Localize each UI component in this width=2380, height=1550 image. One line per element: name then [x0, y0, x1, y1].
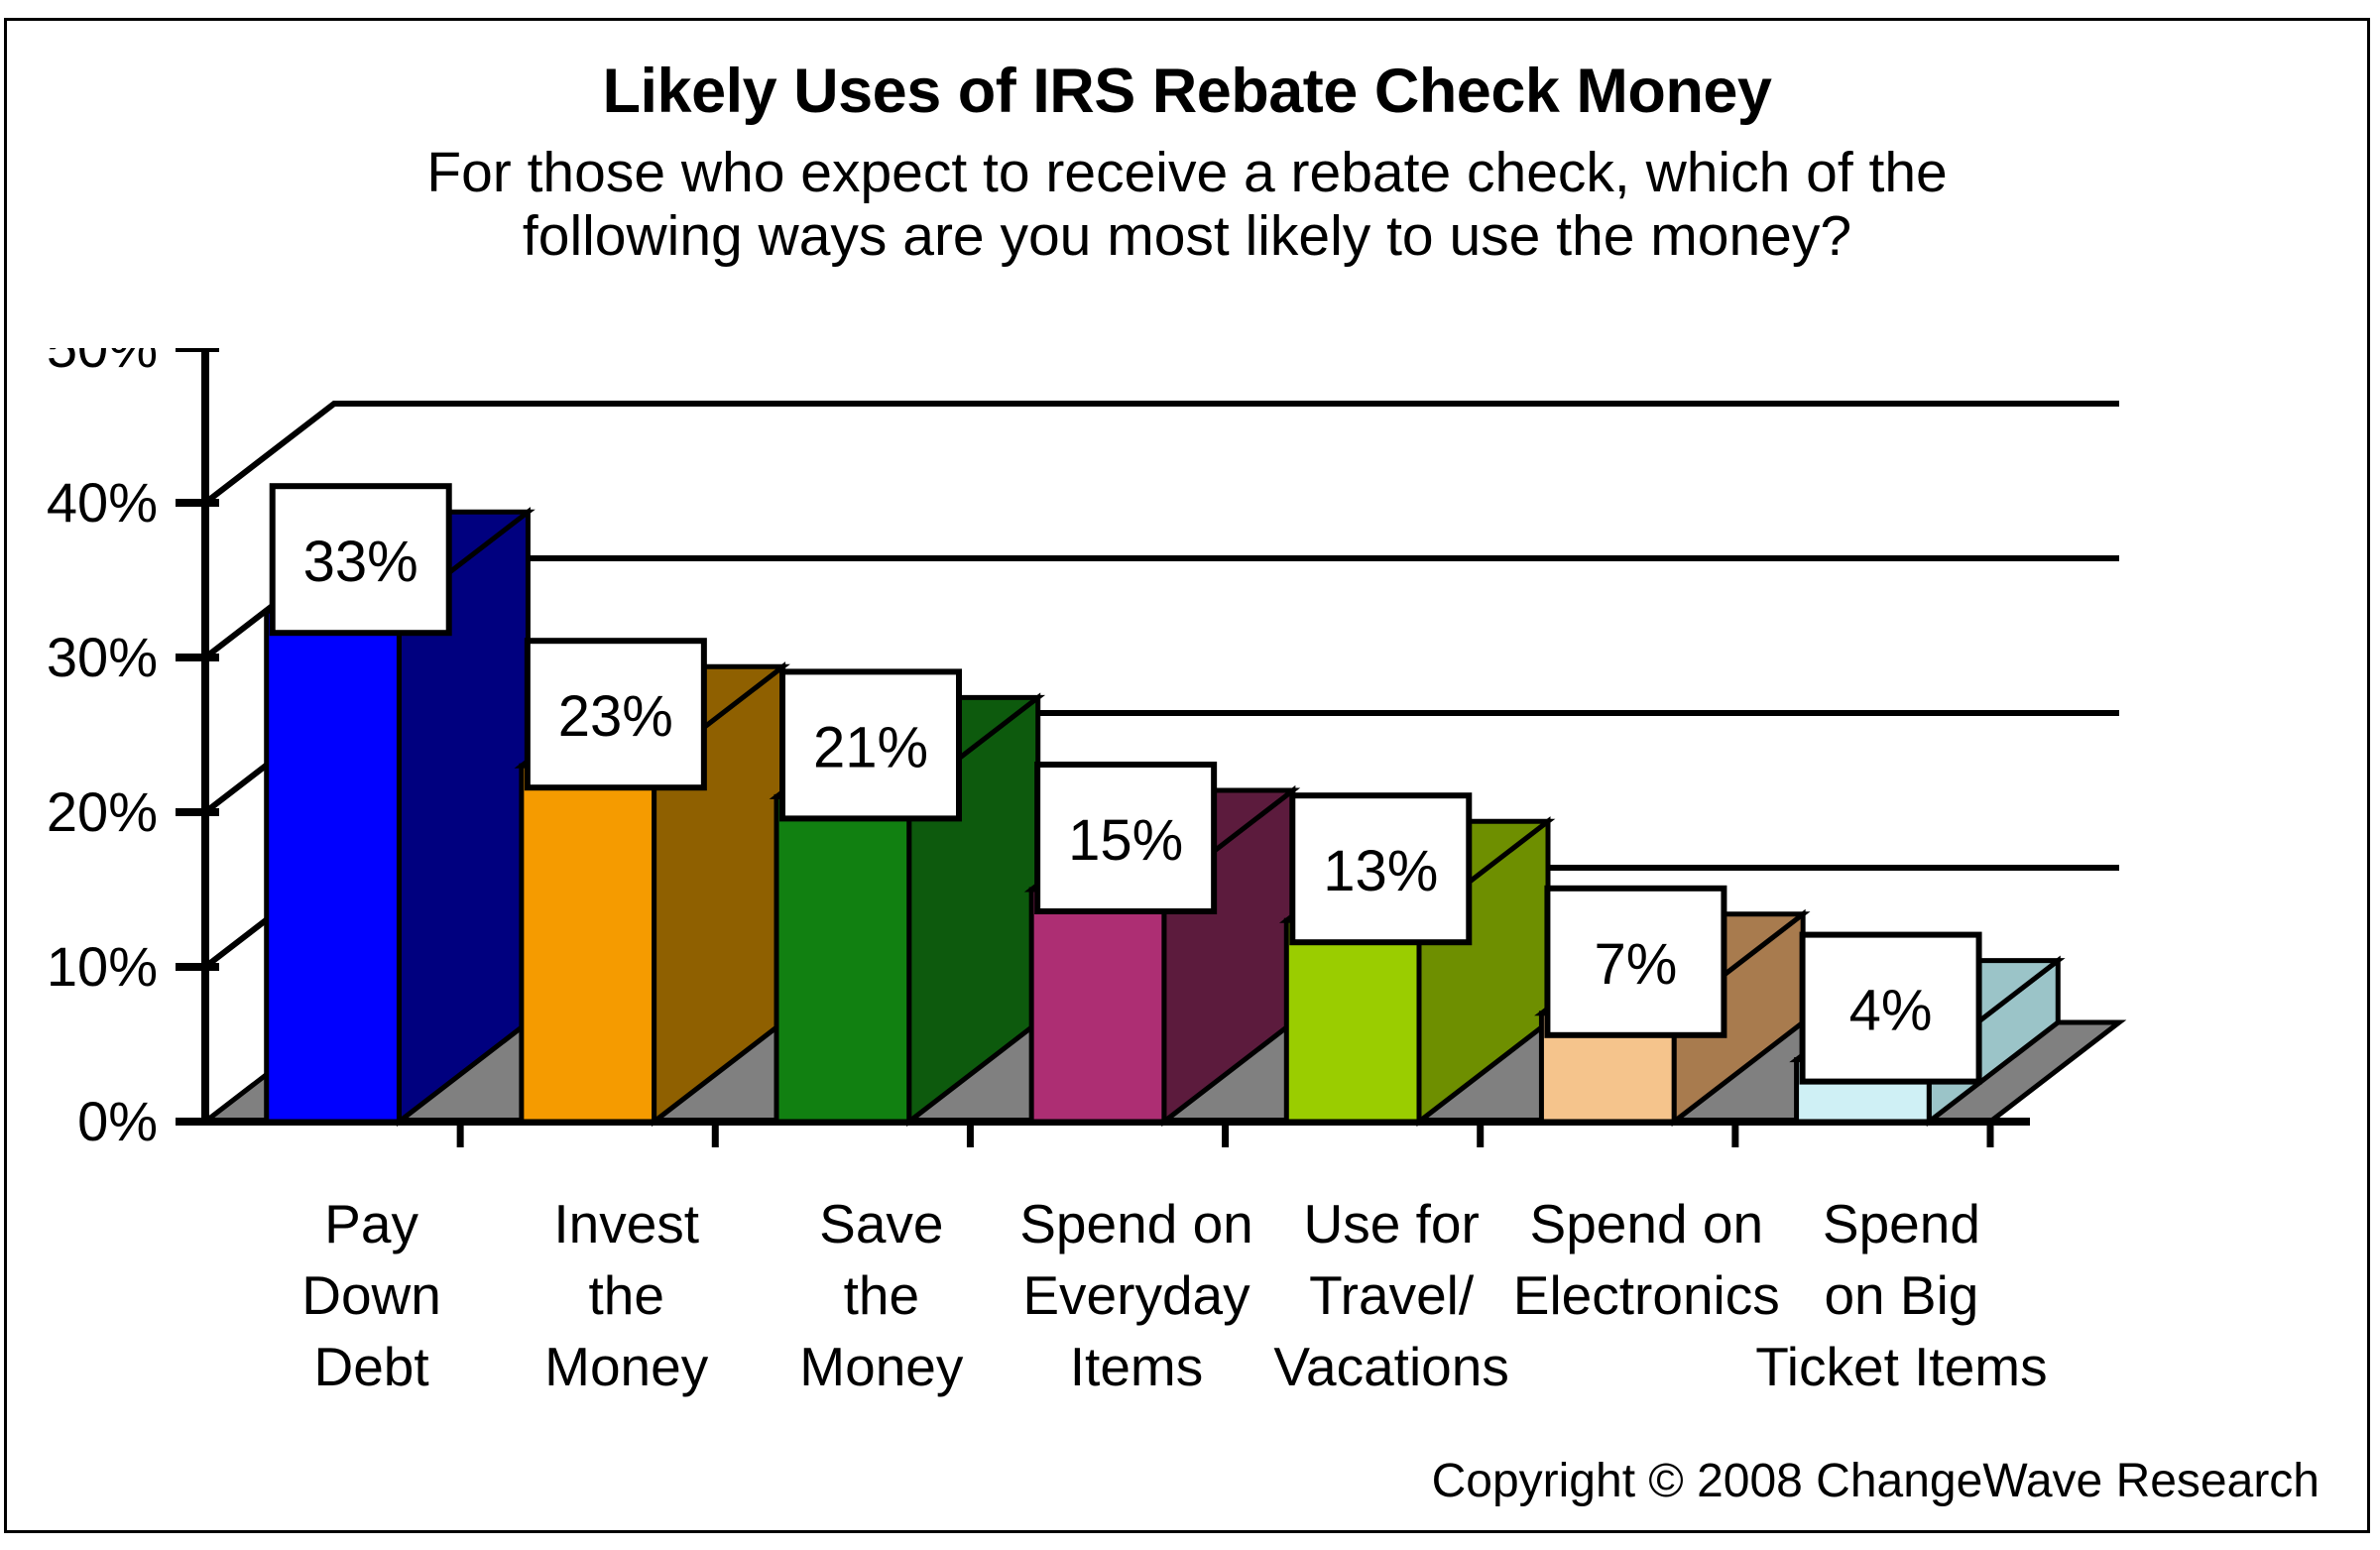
y-axis-tick-label: 0%: [77, 1090, 158, 1152]
page-title: Likely Uses of IRS Rebate Check Money: [7, 59, 2367, 124]
chart-frame: Likely Uses of IRS Rebate Check Money Fo…: [4, 18, 2370, 1533]
bar-front-face: [267, 611, 400, 1122]
category-label-line: Items: [1070, 1336, 1203, 1397]
y-axis-tick-label: 10%: [47, 935, 158, 998]
category-label-line: the: [844, 1264, 919, 1326]
x-axis-category-label: Use forTravel/Vacations: [1273, 1193, 1508, 1397]
y-axis-tick-labels: 0%10%20%30%40%50%: [47, 348, 158, 1152]
chart-titles: Likely Uses of IRS Rebate Check Money Fo…: [7, 21, 2367, 269]
value-label-text: 23%: [558, 684, 673, 749]
value-label-text: 21%: [813, 715, 928, 779]
category-label-line: the: [588, 1264, 663, 1326]
bar-front-face: [1031, 890, 1164, 1122]
y-axis-tick-label: 40%: [47, 471, 158, 534]
category-label-line: on Big: [1824, 1264, 1978, 1326]
bar-chart-plot: 0%10%20%30%40%50% 33%23%21%15%13%7%4% Pa…: [7, 348, 2373, 1459]
category-label-line: Money: [544, 1336, 709, 1397]
value-label: 21%: [782, 671, 959, 818]
category-label-line: Down: [301, 1264, 441, 1326]
x-axis-category-label: SavetheMoney: [799, 1193, 964, 1397]
value-label-text: 13%: [1323, 839, 1438, 903]
y-axis-tick-label: 50%: [47, 348, 158, 379]
bar-front-face: [776, 796, 909, 1122]
bar-front-face: [1286, 920, 1419, 1122]
value-label: 4%: [1803, 935, 1979, 1082]
value-label: 13%: [1292, 795, 1469, 942]
category-label-line: Spend on: [1530, 1193, 1764, 1254]
x-axis-category-labels: PayDownDebtInvesttheMoneySavetheMoneySpe…: [301, 1193, 2047, 1397]
category-label-line: Everyday: [1022, 1264, 1250, 1326]
category-label-line: Debt: [313, 1336, 428, 1397]
value-label: 15%: [1037, 765, 1214, 911]
x-axis-category-label: Spend onEverydayItems: [1019, 1193, 1253, 1397]
category-label-line: Money: [799, 1336, 964, 1397]
category-label-line: Use for: [1304, 1193, 1480, 1254]
category-label-line: Travel/: [1309, 1264, 1475, 1326]
y-axis-tick-label: 30%: [47, 626, 158, 688]
value-label-text: 7%: [1595, 932, 1678, 997]
value-label-text: 4%: [1849, 979, 1933, 1043]
gridline: [205, 404, 2119, 503]
copyright-notice: Copyright © 2008 ChangeWave Research: [1432, 1454, 2320, 1508]
category-label-line: Pay: [324, 1193, 418, 1254]
category-label-line: Vacations: [1273, 1336, 1508, 1397]
value-label: 23%: [528, 641, 704, 787]
category-label-line: Invest: [553, 1193, 699, 1254]
category-label-line: Ticket Items: [1755, 1336, 2047, 1397]
value-label-text: 15%: [1068, 808, 1183, 873]
value-label: 7%: [1547, 889, 1724, 1035]
x-axis-category-label: InvesttheMoney: [544, 1193, 709, 1397]
x-axis-category-label: Spendon BigTicket Items: [1755, 1193, 2047, 1397]
category-label-line: Spend on: [1019, 1193, 1253, 1254]
x-axis-category-label: PayDownDebt: [301, 1193, 441, 1397]
bar-front-face: [522, 766, 654, 1122]
x-axis-category-label: Spend onElectronics: [1513, 1193, 1780, 1326]
chart-subtitle-line-2: following ways are you most likely to us…: [7, 205, 2367, 269]
value-label: 33%: [273, 486, 449, 633]
y-axis-tick-label: 20%: [47, 780, 158, 843]
value-label-text: 33%: [303, 530, 418, 594]
category-label-line: Electronics: [1513, 1264, 1780, 1326]
category-label-line: Spend: [1823, 1193, 1980, 1254]
chart-subtitle-line-1: For those who expect to receive a rebate…: [7, 142, 2367, 205]
category-label-line: Save: [819, 1193, 943, 1254]
